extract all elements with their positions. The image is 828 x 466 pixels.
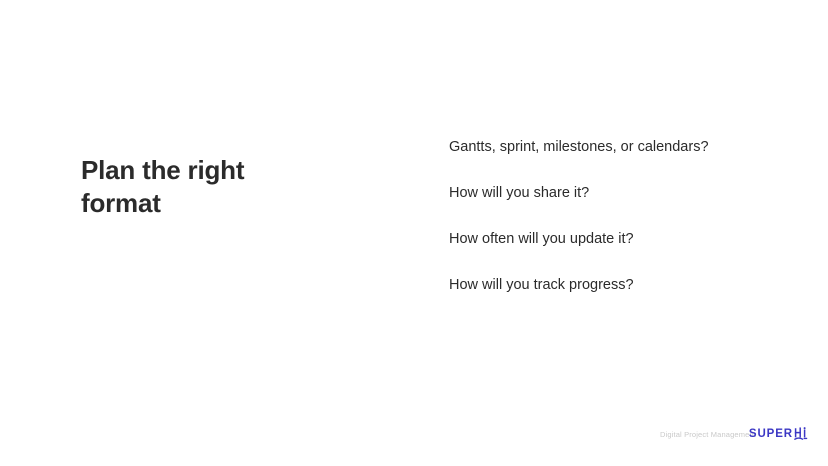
- list-item: How will you share it?: [418, 182, 778, 228]
- list-item-label: How often will you update it?: [449, 228, 634, 250]
- green-circle-bullet-icon: [418, 185, 440, 207]
- superhi-hi-monogram-icon: [794, 427, 808, 443]
- list-item: How will you track progress?: [418, 274, 778, 320]
- list-item-label: How will you track progress?: [449, 274, 634, 296]
- slide-footer: Digital Project Management SUPER: [0, 427, 828, 449]
- yellow-quarter-circle-bullet-icon: [418, 277, 440, 299]
- brand-logo: SUPER: [749, 427, 808, 445]
- blue-square-bullet-icon: [418, 139, 440, 161]
- list-item-label: How will you share it?: [449, 182, 589, 204]
- footer-caption: Digital Project Management: [660, 430, 756, 439]
- brand-wordmark: SUPER: [749, 427, 793, 441]
- list-item-label: Gantts, sprint, milestones, or calendars…: [449, 136, 709, 158]
- list-item: How often will you update it?: [418, 228, 778, 274]
- page-title: Plan the right format: [81, 154, 381, 220]
- bullet-list: Gantts, sprint, milestones, or calendars…: [418, 136, 778, 320]
- red-diamond-bullet-icon: [418, 231, 440, 253]
- slide-canvas: Plan the right format Gantts, sprint, mi…: [0, 0, 828, 466]
- list-item: Gantts, sprint, milestones, or calendars…: [418, 136, 778, 182]
